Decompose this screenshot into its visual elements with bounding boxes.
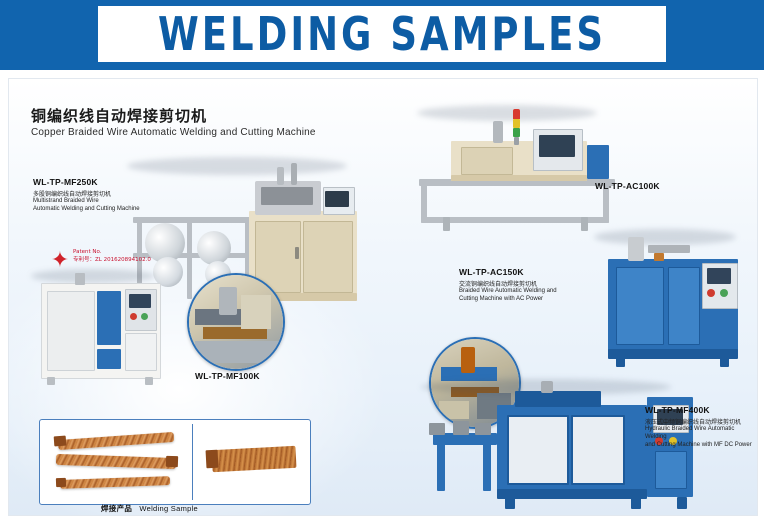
welding-sample-box <box>39 419 311 505</box>
heading-english: Copper Braided Wire Automatic Welding an… <box>31 127 316 138</box>
model-label-mf400k: WL-TP-MF400K <box>645 405 710 415</box>
braid-sample-1-tip <box>54 436 67 447</box>
braid-sample-1 <box>58 432 174 450</box>
banner-title-plate: WELDING SAMPLES <box>98 6 666 62</box>
sample-box-divider <box>192 424 193 500</box>
model-desc-en-ac150k: Braided Wire Automatic Welding and Cutti… <box>459 287 609 303</box>
detail-photo-mf100k <box>187 273 285 371</box>
model-label-ac150k: WL-TP-AC150K <box>459 267 524 277</box>
sample-caption-en: Welding Sample <box>139 504 198 513</box>
model-label-mf250k: WL-TP-MF250K <box>33 177 98 187</box>
patent-text: Patent No. 专利号：ZL 201620894102.0 <box>73 248 151 264</box>
braid-sample-3-tip <box>56 478 66 487</box>
sample-caption: 焊接产品 Welding Sample <box>101 503 198 514</box>
model-desc-en-mf250k: Multistrand Braided Wire Automatic Weldi… <box>33 197 163 213</box>
product-collage: 铜编织线自动焊接剪切机 Copper Braided Wire Automati… <box>8 78 758 516</box>
header-banner: WELDING SAMPLES <box>0 0 764 70</box>
poster-page: WELDING SAMPLES 铜编织线自动焊接剪切机 Copper Braid… <box>0 0 764 521</box>
pressed-bar-tip <box>206 450 219 469</box>
heading-chinese: 铜编织线自动焊接剪切机 <box>31 105 207 126</box>
page-title: WELDING SAMPLES <box>158 7 606 61</box>
machine-photo-mf100k <box>31 269 171 394</box>
model-desc-en-mf400k: Hydraulic Braided Wire Automatic Welding… <box>645 425 757 449</box>
braid-sample-2 <box>56 454 176 469</box>
sample-caption-cn: 焊接产品 <box>101 504 132 513</box>
braid-sample-2-tip <box>166 456 178 467</box>
machine-photo-ac150k <box>594 229 754 379</box>
model-label-mf100k: WL-TP-MF100K <box>195 371 260 381</box>
model-label-ac100k: WL-TP-AC100K <box>595 181 660 191</box>
braid-sample-3 <box>60 476 170 489</box>
pressed-bar-sample <box>211 446 296 472</box>
machine-photo-ac100k <box>417 105 617 235</box>
